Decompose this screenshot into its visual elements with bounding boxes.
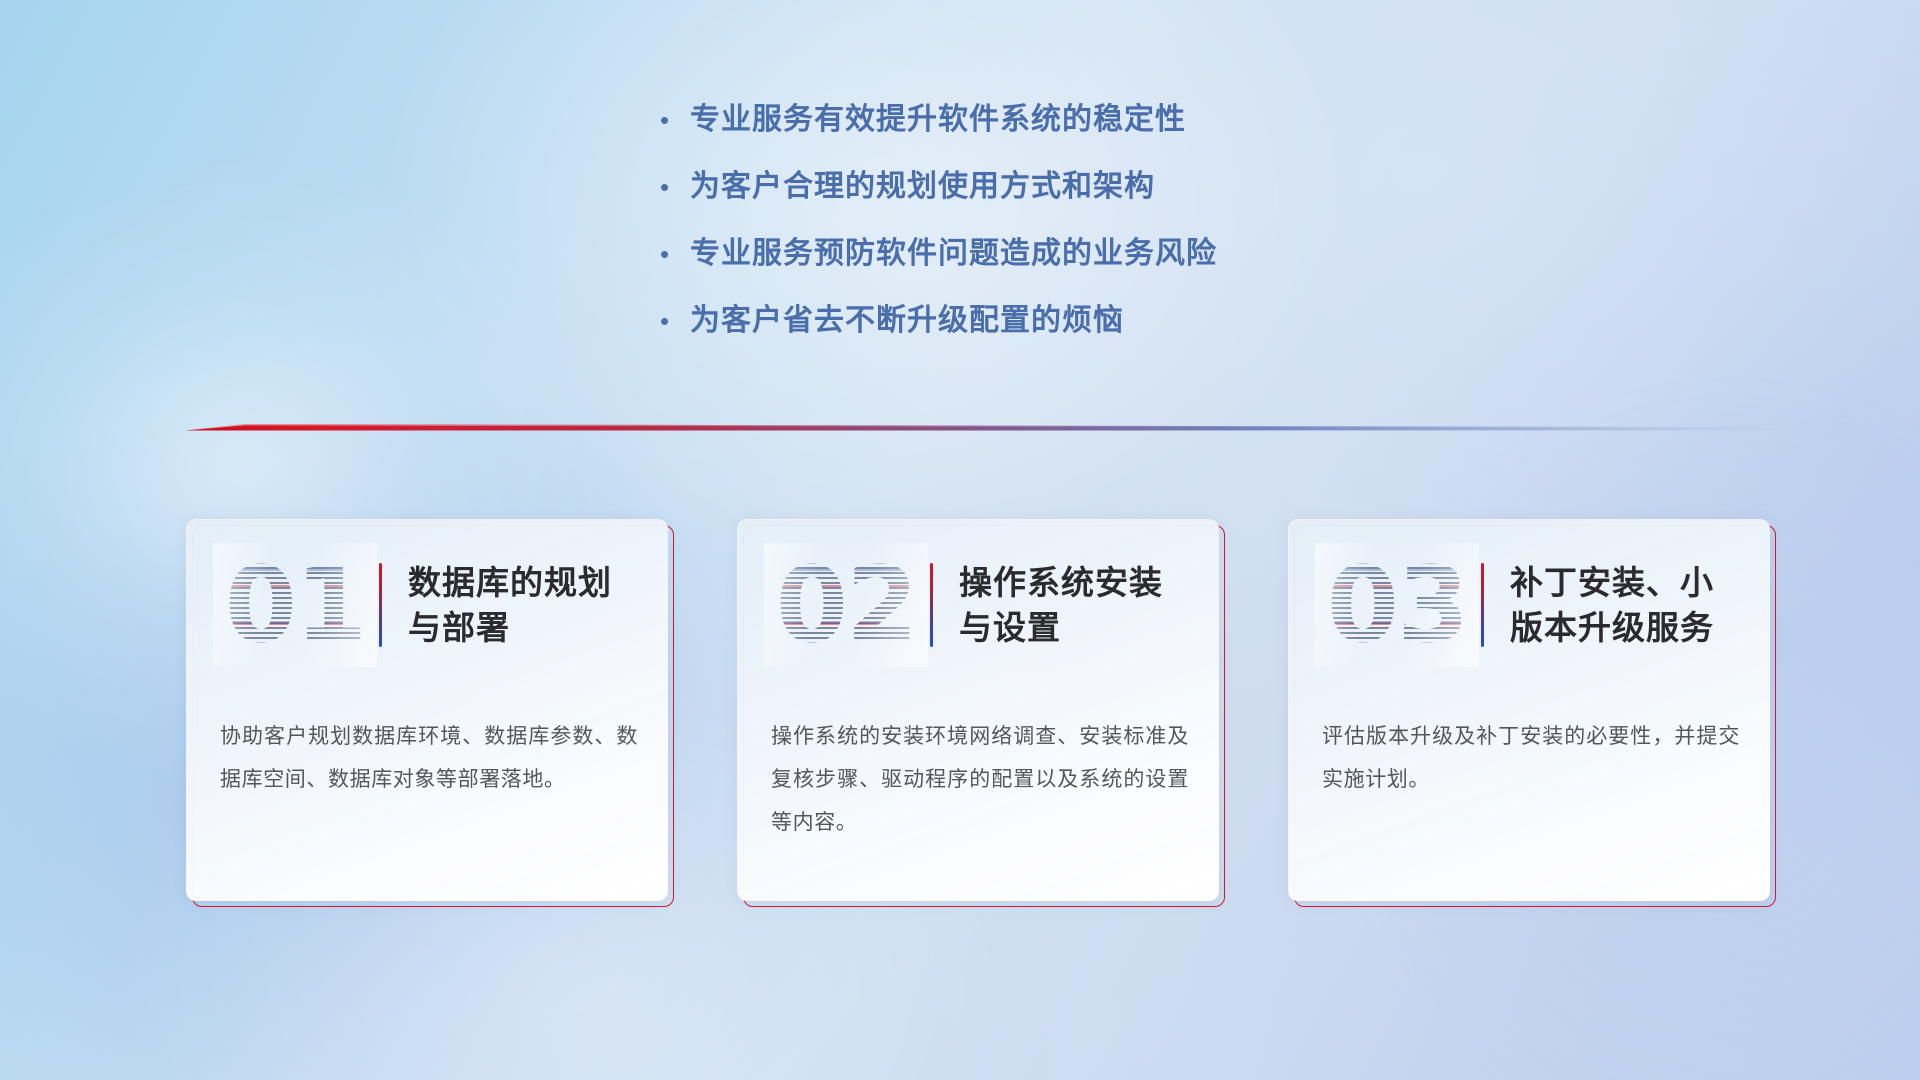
card-panel: 02 02 02 操作系统安装与设置 操作系统的安装环境网络调查、安装标准及复核…	[737, 519, 1219, 901]
bullet-item-label: 专业服务有效提升软件系统的稳定性	[690, 100, 1186, 140]
service-card[interactable]: 02 02 02 操作系统安装与设置 操作系统的安装环境网络调查、安装标准及复核…	[737, 519, 1219, 901]
card-number-badge: 01 01 01	[219, 547, 371, 663]
bullet-dot-icon: •	[660, 167, 690, 207]
bullet-item: • 专业服务有效提升软件系统的稳定性	[660, 100, 1560, 140]
service-card[interactable]: 03 03 03 补丁安装、小版本升级服务 评估版本升级及补丁安装的必要性，并提…	[1288, 519, 1770, 901]
bullet-item: • 为客户合理的规划使用方式和架构	[660, 167, 1560, 207]
bullet-dot-icon: •	[660, 100, 690, 140]
bullet-item-label: 为客户合理的规划使用方式和架构	[690, 167, 1155, 207]
service-card-list: 01 01 01 数据库的规划与部署 协助客户规划数据库环境、数据库参数、数据库…	[186, 519, 1776, 909]
card-title: 补丁安装、小版本升级服务	[1510, 560, 1740, 650]
card-number-badge: 02 02 02	[770, 547, 922, 663]
card-header: 03 03 03 补丁安装、小版本升级服务	[1289, 520, 1770, 690]
bullet-item: • 专业服务预防软件问题造成的业务风险	[660, 234, 1560, 274]
slide-canvas: • 专业服务有效提升软件系统的稳定性 • 为客户合理的规划使用方式和架构 • 专…	[0, 0, 1920, 1080]
card-number-stripes-blue: 02	[770, 547, 922, 663]
card-header: 01 01 01 数据库的规划与部署	[187, 520, 668, 690]
section-divider	[185, 418, 1785, 440]
bullet-item: • 为客户省去不断升级配置的烦恼	[660, 301, 1560, 341]
card-title: 数据库的规划与部署	[408, 560, 638, 650]
bullet-dot-icon: •	[660, 234, 690, 274]
benefits-bullet-list: • 专业服务有效提升软件系统的稳定性 • 为客户合理的规划使用方式和架构 • 专…	[660, 100, 1560, 368]
card-title-accent-rule	[930, 563, 933, 647]
card-header: 02 02 02 操作系统安装与设置	[738, 520, 1219, 690]
card-panel: 01 01 01 数据库的规划与部署 协助客户规划数据库环境、数据库参数、数据库…	[186, 519, 668, 901]
card-body-text: 协助客户规划数据库环境、数据库参数、数据库空间、数据库对象等部署落地。	[220, 715, 638, 801]
card-panel: 03 03 03 补丁安装、小版本升级服务 评估版本升级及补丁安装的必要性，并提…	[1288, 519, 1770, 901]
bullet-item-label: 专业服务预防软件问题造成的业务风险	[690, 234, 1217, 274]
bullet-dot-icon: •	[660, 301, 690, 341]
card-title: 操作系统安装与设置	[959, 560, 1189, 650]
card-body-text: 操作系统的安装环境网络调查、安装标准及复核步骤、驱动程序的配置以及系统的设置等内…	[771, 715, 1189, 844]
service-card[interactable]: 01 01 01 数据库的规划与部署 协助客户规划数据库环境、数据库参数、数据库…	[186, 519, 668, 901]
card-number-badge: 03 03 03	[1321, 547, 1473, 663]
card-title-accent-rule	[379, 563, 382, 647]
card-number-stripes-blue: 01	[219, 547, 371, 663]
bullet-item-label: 为客户省去不断升级配置的烦恼	[690, 301, 1124, 341]
card-body-text: 评估版本升级及补丁安装的必要性，并提交实施计划。	[1322, 715, 1740, 801]
card-title-accent-rule	[1481, 563, 1484, 647]
card-number-stripes-blue: 03	[1321, 547, 1473, 663]
